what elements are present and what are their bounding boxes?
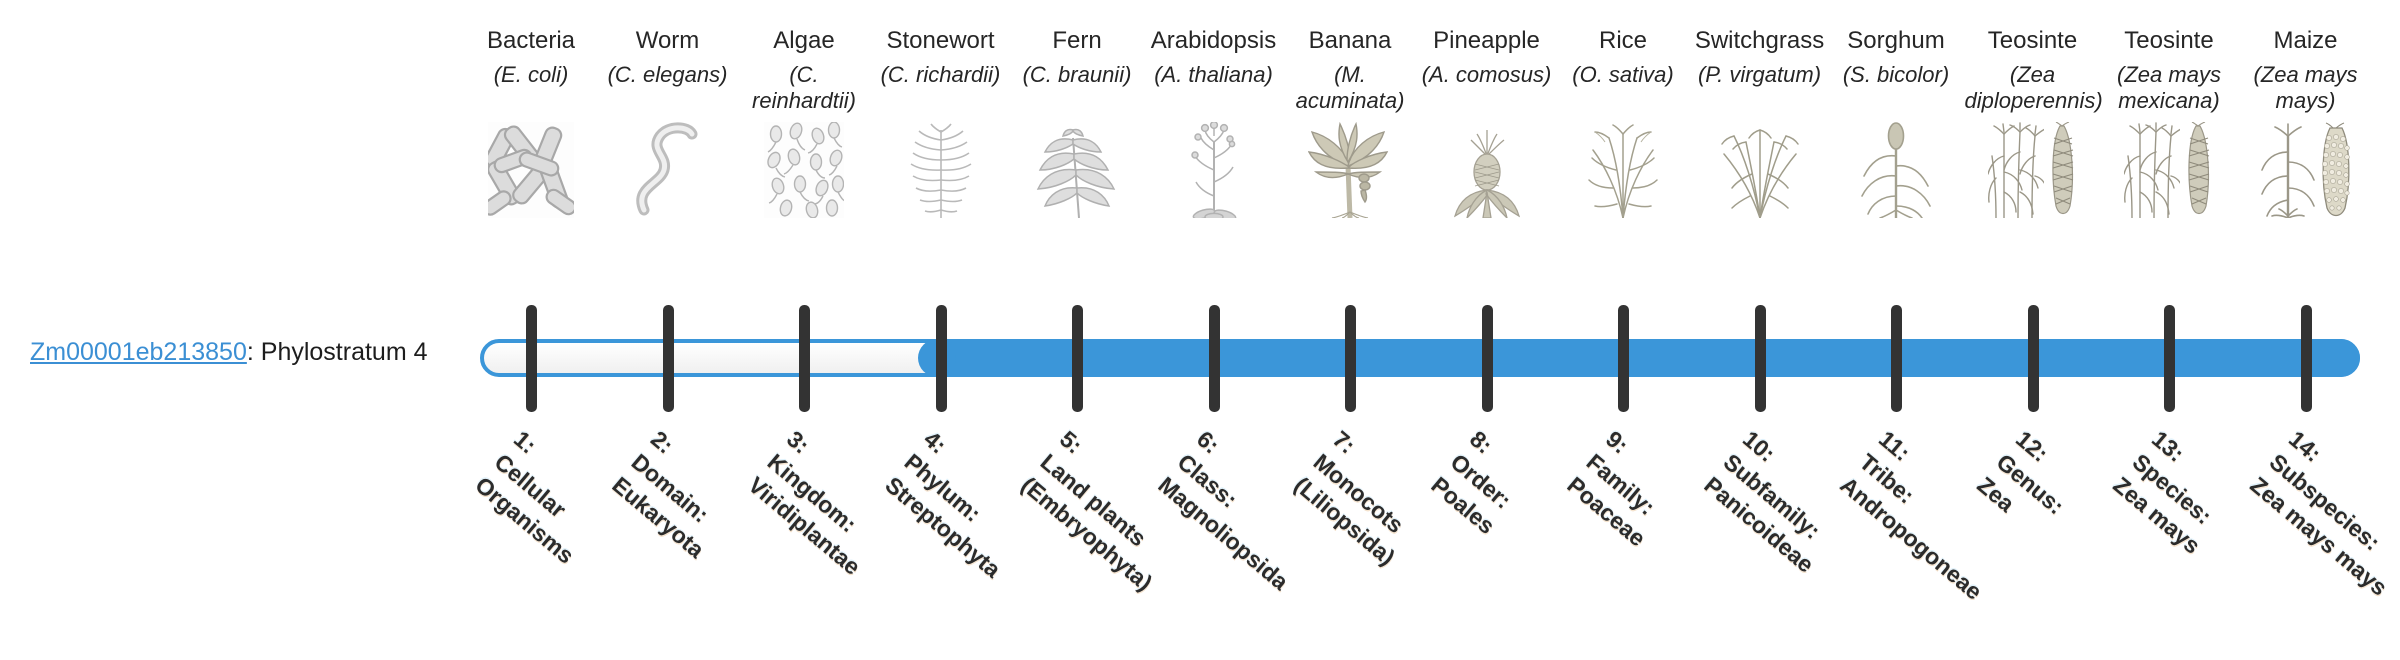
tick-mark-14[interactable] [2301, 305, 2312, 412]
species-common-name: Rice [1555, 26, 1691, 56]
banana-icon [1282, 122, 1418, 218]
rice-icon [1555, 122, 1691, 218]
gene-phylostratum-value: Phylostratum 4 [261, 338, 428, 366]
teosinte-mex-icon [2101, 122, 2237, 218]
species-latin-name: (Zea mays mays) [2238, 62, 2374, 120]
species-common-name: Arabidopsis [1146, 26, 1282, 56]
species-common-name: Switchgrass [1692, 26, 1828, 56]
algae-icon [736, 122, 872, 218]
species-column-teosinte-13: Teosinte(Zea mays mexicana) [2101, 26, 2237, 218]
gene-label-separator: : [247, 338, 261, 366]
tick-mark-11[interactable] [1891, 305, 1902, 412]
species-latin-name: (C. elegans) [600, 62, 736, 120]
tick-mark-2[interactable] [663, 305, 674, 412]
tick-mark-6[interactable] [1209, 305, 1220, 412]
tick-mark-13[interactable] [2164, 305, 2175, 412]
species-latin-name: (M. acuminata) [1282, 62, 1418, 120]
species-latin-name: (A. comosus) [1419, 62, 1555, 120]
species-latin-name: (Zea mays mexicana) [2101, 62, 2237, 120]
species-latin-name: (A. thaliana) [1146, 62, 1282, 120]
species-common-name: Pineapple [1419, 26, 1555, 56]
tick-mark-12[interactable] [2028, 305, 2039, 412]
species-common-name: Teosinte [1965, 26, 2101, 56]
tick-mark-10[interactable] [1755, 305, 1766, 412]
species-common-name: Worm [600, 26, 736, 56]
species-latin-name: (E. coli) [463, 62, 599, 120]
phylostratigraphy-chart: Zm00001eb213850: Phylostratum 4 Bacteria… [0, 0, 2400, 580]
species-column-bacteria-1: Bacteria(E. coli) [463, 26, 599, 218]
species-common-name: Stonewort [873, 26, 1009, 56]
fern-icon [1009, 122, 1145, 218]
switchgrass-icon [1692, 122, 1828, 218]
species-column-rice-9: Rice(O. sativa) [1555, 26, 1691, 218]
species-column-switchgrass-10: Switchgrass(P. virgatum) [1692, 26, 1828, 218]
teosinte-diplo-icon [1965, 122, 2101, 218]
species-column-arabidopsis-6: Arabidopsis(A. thaliana) [1146, 26, 1282, 218]
phylostratum-progress-bar[interactable] [480, 339, 2360, 377]
maize-icon [2238, 122, 2374, 218]
arabidopsis-icon [1146, 122, 1282, 218]
species-latin-name: (C. reinhardtii) [736, 62, 872, 120]
sorghum-icon [1828, 122, 1964, 218]
species-common-name: Algae [736, 26, 872, 56]
species-common-name: Teosinte [2101, 26, 2237, 56]
species-common-name: Maize [2238, 26, 2374, 56]
species-column-algae-3: Algae(C. reinhardtii) [736, 26, 872, 218]
stonewort-icon [873, 122, 1009, 218]
species-column-fern-5: Fern(C. braunii) [1009, 26, 1145, 218]
species-column-worm-2: Worm(C. elegans) [600, 26, 736, 218]
species-column-sorghum-11: Sorghum(S. bicolor) [1828, 26, 1964, 218]
tick-mark-3[interactable] [799, 305, 810, 412]
tick-mark-5[interactable] [1072, 305, 1083, 412]
tick-mark-8[interactable] [1482, 305, 1493, 412]
species-common-name: Bacteria [463, 26, 599, 56]
species-latin-name: (O. sativa) [1555, 62, 1691, 120]
species-latin-name: (Zea diploperennis) [1965, 62, 2101, 120]
tick-mark-9[interactable] [1618, 305, 1629, 412]
worm-icon [600, 122, 736, 218]
tick-mark-7[interactable] [1345, 305, 1356, 412]
species-column-teosinte-12: Teosinte(Zea diploperennis) [1965, 26, 2101, 218]
species-latin-name: (P. virgatum) [1692, 62, 1828, 120]
bacteria-icon [463, 122, 599, 218]
species-column-maize-14: Maize(Zea mays mays) [2238, 26, 2374, 218]
species-column-stonewort-4: Stonewort(C. richardii) [873, 26, 1009, 218]
pineapple-icon [1419, 122, 1555, 218]
species-column-banana-7: Banana(M. acuminata) [1282, 26, 1418, 218]
species-common-name: Fern [1009, 26, 1145, 56]
gene-accession-link[interactable]: Zm00001eb213850 [30, 338, 247, 366]
gene-phylostratum-label: Zm00001eb213850: Phylostratum 4 [30, 337, 460, 367]
tick-mark-1[interactable] [526, 305, 537, 412]
tick-mark-4[interactable] [936, 305, 947, 412]
species-common-name: Banana [1282, 26, 1418, 56]
species-latin-name: (C. braunii) [1009, 62, 1145, 120]
species-column-pineapple-8: Pineapple(A. comosus) [1419, 26, 1555, 218]
species-latin-name: (C. richardii) [873, 62, 1009, 120]
species-latin-name: (S. bicolor) [1828, 62, 1964, 120]
species-common-name: Sorghum [1828, 26, 1964, 56]
